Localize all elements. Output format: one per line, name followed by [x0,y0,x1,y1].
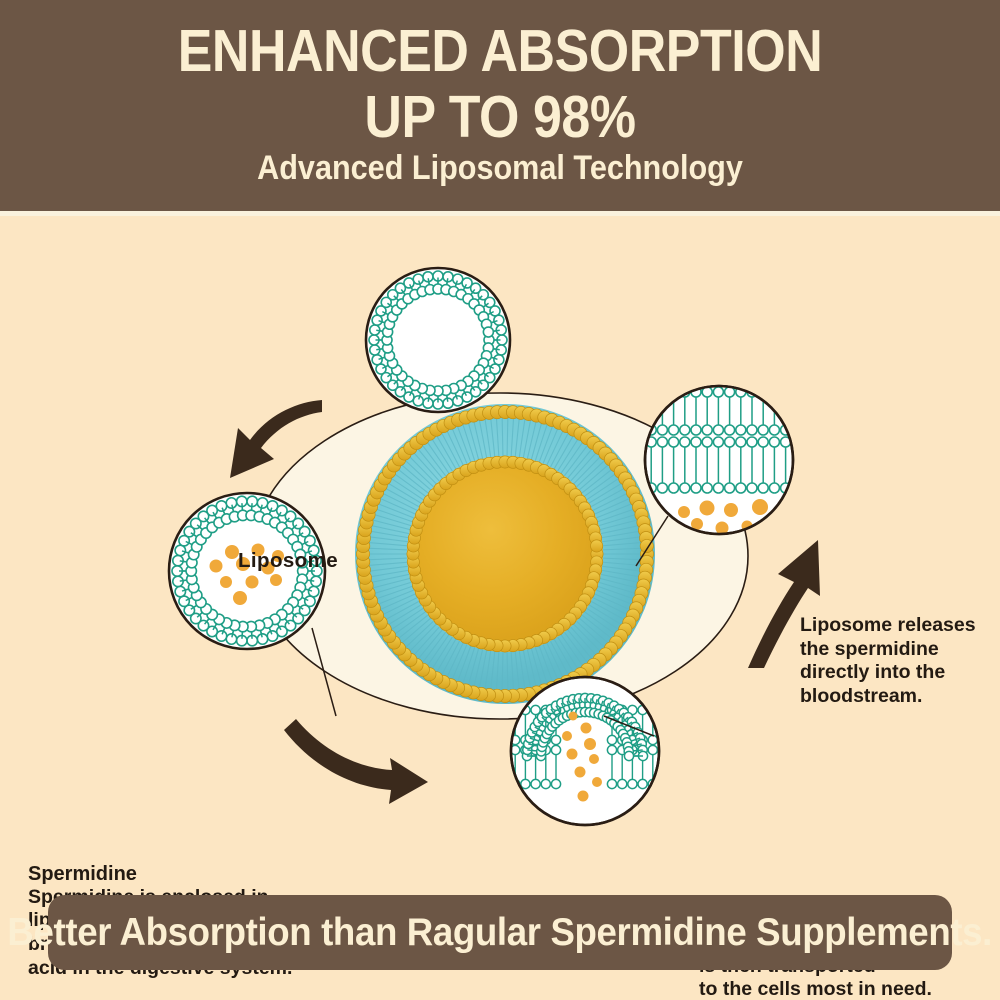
liposome-cycle-diagram [0,216,1000,895]
header-underline-divider [0,211,1000,216]
header-banner: ENHANCED ABSORPTION UP TO 98% Advanced L… [0,0,1000,211]
liposomal-spermidine-particle [356,405,653,702]
curved-arrow-right-icon [284,719,428,804]
diagram-stage: Liposome SpermidineSpermidine is enclose… [0,216,1000,895]
header-title-line2: UP TO 98% [60,88,940,147]
callout-release: Liposome releases the spermidine directl… [800,614,976,708]
label-liposome: Liposome [238,549,338,574]
header-title-line1: ENHANCED ABSORPTION [60,22,940,81]
liposome-vesicle-icon [366,268,510,412]
header-subtitle: Advanced Liposomal Technology [50,151,950,185]
callout-spermidine-title: Spermidine [28,862,292,886]
bottom-banner-text: Better Absorption than Ragular Spermidin… [8,913,993,952]
infographic-poster: ENHANCED ABSORPTION UP TO 98% Advanced L… [0,0,1000,1000]
bottom-banner: Better Absorption than Ragular Spermidin… [48,895,952,970]
